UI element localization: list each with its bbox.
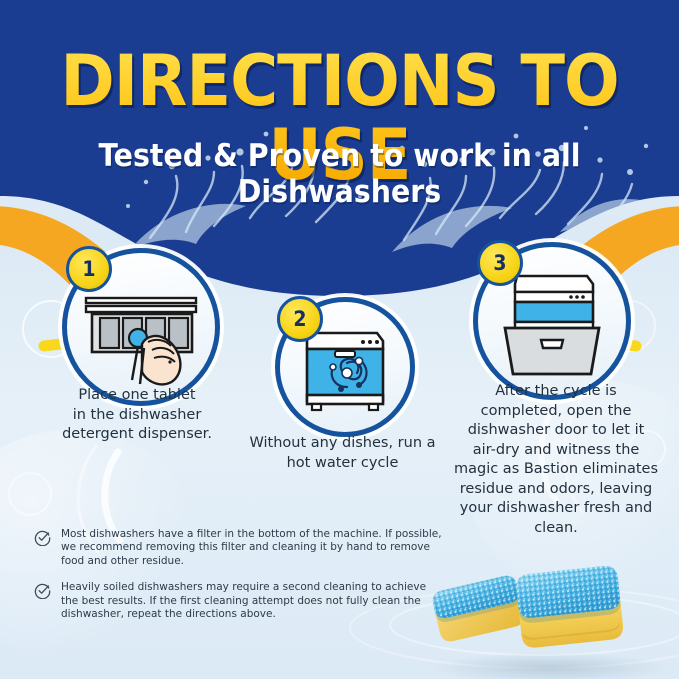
tablet-front	[515, 565, 624, 649]
tablet-back	[431, 574, 526, 644]
notes-list: Most dishwashers have a filter in the bo…	[34, 528, 444, 634]
tablets-illustration	[420, 548, 679, 679]
step-2-badge: 2	[277, 296, 323, 342]
step-3-caption-line-3: dishwasher door to let it	[440, 421, 672, 441]
step-3-caption-line-5: magic as Bastion eliminates	[440, 460, 672, 480]
step-1-caption-line-2: in the dishwasher	[32, 406, 242, 426]
check-circle-icon	[34, 582, 51, 599]
infographic-page: DIRECTIONS TO USE Tested & Proven to wor…	[0, 0, 679, 679]
step-1-caption-line-1: Place one tablet	[32, 386, 242, 406]
step-3-caption: After the cycle is completed, open the d…	[440, 382, 672, 538]
step-2-caption-line-2: hot water cycle	[240, 454, 445, 474]
step-1-caption: Place one tablet in the dishwasher deter…	[32, 386, 242, 445]
step-2-number: 2	[293, 307, 306, 331]
step-3-caption-line-6: residue and odors, leaving	[440, 480, 672, 500]
step-3-number: 3	[493, 251, 506, 275]
step-3-caption-line-8: clean.	[440, 519, 672, 539]
note-text: Heavily soiled dishwashers may require a…	[61, 581, 444, 621]
step-3-badge: 3	[477, 240, 523, 286]
page-subtitle: Tested & Proven to work in all Dishwashe…	[0, 138, 679, 210]
step-3-caption-line-2: completed, open the	[440, 402, 672, 422]
note-text: Most dishwashers have a filter in the bo…	[61, 528, 444, 568]
step-3-caption-line-7: your dishwasher fresh and	[440, 499, 672, 519]
check-circle-icon	[34, 529, 51, 546]
note-item: Most dishwashers have a filter in the bo…	[34, 528, 444, 568]
step-1-badge: 1	[66, 246, 112, 292]
step-2-caption: Without any dishes, run a hot water cycl…	[240, 434, 445, 473]
bg-bubble-2	[8, 472, 52, 516]
note-item: Heavily soiled dishwashers may require a…	[34, 581, 444, 621]
step-3-caption-line-4: air-dry and witness the	[440, 441, 672, 461]
step-1-caption-line-3: detergent dispenser.	[32, 425, 242, 445]
step-2-caption-line-1: Without any dishes, run a	[240, 434, 445, 454]
product-tablets-image	[420, 548, 679, 679]
step-3-caption-line-1: After the cycle is	[440, 382, 672, 402]
step-1-number: 1	[82, 257, 95, 281]
